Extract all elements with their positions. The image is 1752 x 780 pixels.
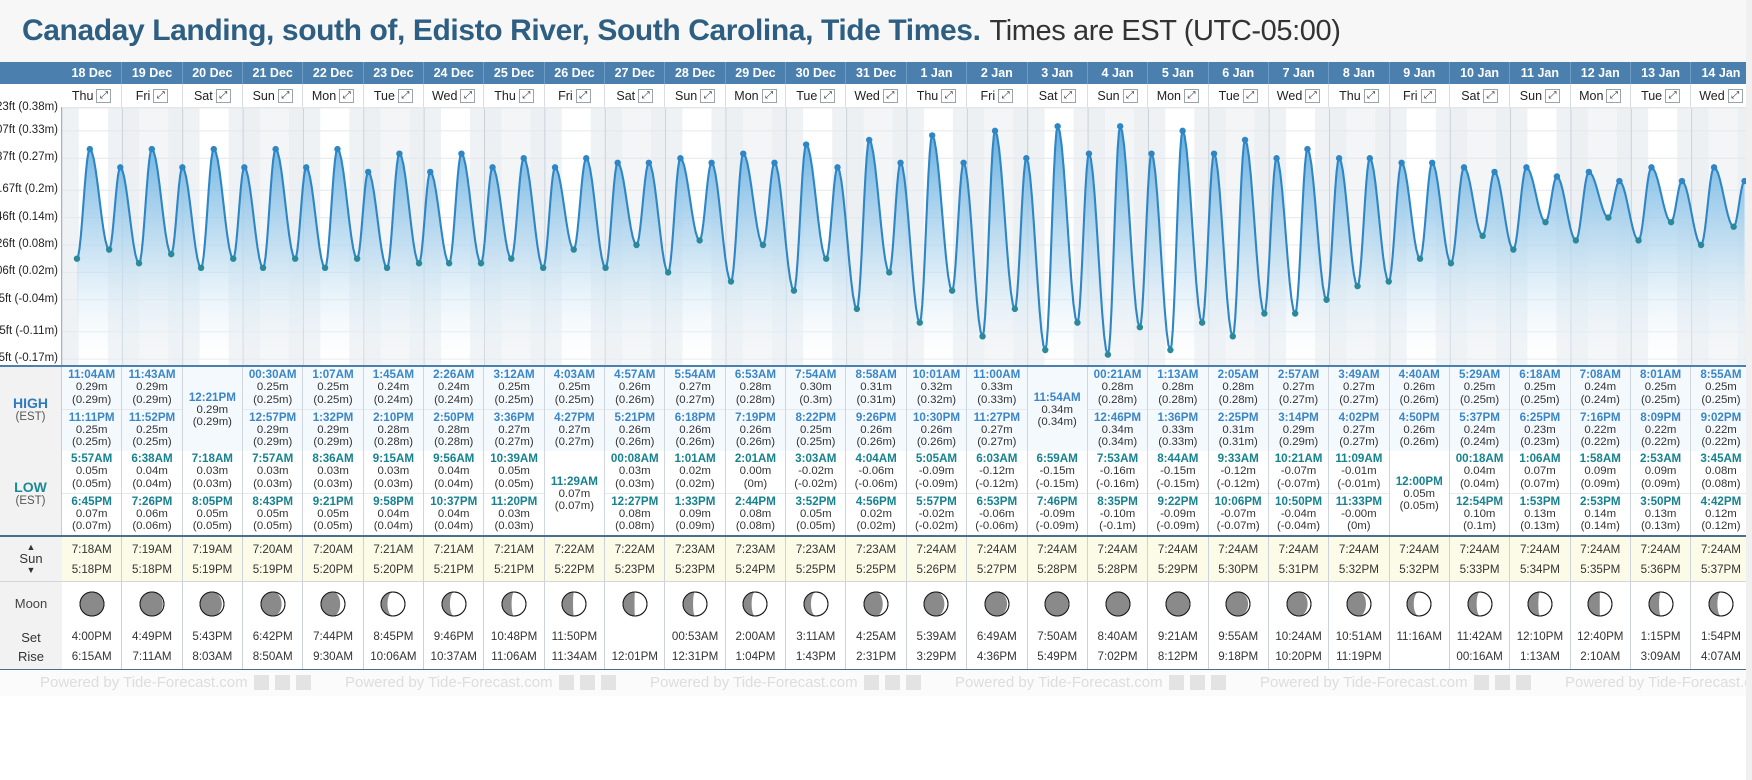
low-tide-cell[interactable]: 7:53AM-0.16m(-0.16m)8:35PM-0.10m(-0.1m) — [1088, 451, 1148, 535]
day-of-week-cell[interactable]: Mon⤢ — [726, 84, 786, 107]
low-tide-entry-time: 1:01AM — [665, 452, 724, 465]
moon-phase-icon — [320, 591, 346, 617]
low-tide-entry: 2:01AM0.00m(0m) — [726, 451, 785, 494]
date-cell[interactable]: 12 Jan — [1571, 62, 1631, 84]
low-tide-entry-time: 11:33PM — [1329, 495, 1388, 508]
low-tide-cell[interactable]: 5:57AM0.05m(0.05m)6:45PM0.07m(0.07m) — [62, 451, 122, 535]
watermark-text: Powered by Tide-Forecast.com — [40, 674, 248, 691]
expand-icon[interactable]: ⤢ — [998, 89, 1013, 103]
moon-cell — [665, 582, 725, 625]
moon-cell — [1148, 582, 1208, 625]
day-of-week-cell[interactable]: Sun⤢ — [1510, 84, 1570, 107]
expand-icon[interactable]: ⤢ — [638, 89, 653, 103]
high-tide-entry-height: 0.27m — [1269, 381, 1328, 394]
low-tide-entry-time: 12:27PM — [605, 495, 664, 508]
high-tide-entry-height: 0.27m — [484, 424, 543, 437]
high-tide-cell[interactable]: 00:30AM0.25m(0.25m)12:57PM0.29m(0.29m) — [243, 367, 303, 451]
day-of-week-label: Thu — [72, 89, 94, 103]
low-tide-cell[interactable]: 9:56AM0.04m(0.04m)10:37PM0.04m(0.04m) — [424, 451, 484, 535]
sunrise-time: 7:24AM — [1329, 540, 1388, 560]
low-tide-entry: 12:27PM0.08m(0.08m) — [605, 494, 664, 536]
moon-phase-icon — [1346, 591, 1372, 617]
page-scrollbar[interactable] — [1746, 0, 1752, 780]
high-tide-entry: 6:53AM0.28m(0.28m) — [726, 367, 785, 410]
expand-icon[interactable]: ⤢ — [1483, 89, 1498, 103]
high-tide-entry-height: 0.24m — [1571, 381, 1630, 394]
moon-cell — [122, 582, 182, 625]
high-tide-entry-height: 0.26m — [907, 424, 966, 437]
high-tide-entry-time: 7:54AM — [786, 368, 845, 381]
moon-cell — [62, 582, 122, 625]
low-tide-entry-time: 8:05PM — [183, 495, 242, 508]
low-tide-entry: 11:09AM-0.01m(-0.01m) — [1329, 451, 1388, 494]
date-cell[interactable]: 9 Jan — [1390, 62, 1450, 84]
day-of-week-row: Thu⤢Fri⤢Sat⤢Sun⤢Mon⤢Tue⤢Wed⤢Thu⤢Fri⤢Sat⤢… — [0, 84, 1752, 107]
day-of-week-cell[interactable]: Tue⤢ — [364, 84, 424, 107]
sun-cell: 7:19AM5:18PM — [122, 537, 182, 581]
date-cell[interactable]: 2 Jan — [967, 62, 1027, 84]
low-tide-entry-height: 0.03m — [243, 465, 302, 478]
high-tide-cell[interactable]: 1:07AM0.25m(0.25m)1:32PM0.29m(0.29m) — [303, 367, 363, 451]
expand-icon[interactable]: ⤢ — [1243, 89, 1258, 103]
day-of-week-cell[interactable]: Wed⤢ — [1269, 84, 1329, 107]
expand-icon[interactable]: ⤢ — [1545, 89, 1560, 103]
high-tide-cell[interactable]: 3:49AM0.27m(0.27m)4:02PM0.27m(0.27m) — [1329, 367, 1389, 451]
expand-icon[interactable]: ⤢ — [153, 89, 168, 103]
high-tide-entry-time: 8:58AM — [846, 368, 905, 381]
date-cell[interactable]: 7 Jan — [1269, 62, 1329, 84]
expand-icon[interactable]: ⤢ — [762, 89, 777, 103]
moonset-time: 6:49AM — [967, 627, 1026, 647]
high-tide-cell[interactable]: 8:01AM0.25m(0.25m)8:09PM0.22m(0.22m) — [1631, 367, 1691, 451]
high-tide-cell[interactable]: 8:55AM0.25m(0.25m)9:02PM0.22m(0.22m) — [1691, 367, 1751, 451]
high-tide-cell[interactable]: 3:12AM0.25m(0.25m)3:36PM0.27m(0.27m) — [484, 367, 544, 451]
date-cell[interactable]: 25 Dec — [484, 62, 544, 84]
high-tide-cell[interactable]: 5:29AM0.25m(0.25m)5:37PM0.24m(0.24m) — [1450, 367, 1510, 451]
low-tide-cell[interactable]: 1:06AM0.07m(0.07m)1:53PM0.13m(0.13m) — [1510, 451, 1570, 535]
moonset-label: Set — [21, 628, 41, 648]
low-tide-entry: 9:33AM-0.12m(-0.12m) — [1209, 451, 1268, 494]
low-tide-cell[interactable]: 8:36AM0.03m(0.03m)9:21PM0.05m(0.05m) — [303, 451, 363, 535]
day-of-week-cell[interactable]: Thu⤢ — [907, 84, 967, 107]
expand-icon[interactable]: ⤢ — [883, 89, 898, 103]
low-tide-cell[interactable]: 4:04AM-0.06m(-0.06m)4:56PM0.02m(0.02m) — [846, 451, 906, 535]
low-tide-entry-height: -0.07m — [1209, 508, 1268, 521]
high-tide-entry-height-alt: (0.25m) — [1510, 394, 1569, 407]
day-of-week-label: Fri — [1403, 89, 1418, 103]
y-axis-tick-label: -0.55ft (-0.17m) — [0, 352, 58, 364]
low-tide-cell[interactable]: 6:59AM-0.15m(-0.15m)7:46PM-0.09m(-0.09m) — [1028, 451, 1088, 535]
date-cell[interactable]: 5 Jan — [1148, 62, 1208, 84]
high-tide-cell[interactable]: 4:40AM0.26m(0.26m)4:50PM0.26m(0.26m) — [1390, 367, 1450, 451]
high-tide-cell[interactable]: 4:03AM0.25m(0.25m)4:27PM0.27m(0.27m) — [545, 367, 605, 451]
sun-cell: 7:23AM5:23PM — [665, 537, 725, 581]
low-tide-entry-height: 0.03m — [484, 508, 543, 521]
date-cell[interactable]: 29 Dec — [726, 62, 786, 84]
expand-icon[interactable]: ⤢ — [519, 89, 534, 103]
moon-setrise-cell: 1:54PM4:07AM — [1691, 625, 1751, 669]
low-tide-title: LOW — [14, 479, 47, 495]
high-tide-entry-height: 0.25m — [243, 381, 302, 394]
low-tide-entry-time: 8:43PM — [243, 495, 302, 508]
moonrise-time: 9:30AM — [303, 647, 362, 667]
low-tide-entry-time: 9:21PM — [303, 495, 362, 508]
day-of-week-cell[interactable]: Fri⤢ — [122, 84, 182, 107]
low-tide-entry-height-alt: (0.09m) — [665, 520, 724, 533]
high-tide-cell[interactable]: 7:08AM0.24m(0.24m)7:16PM0.22m(0.22m) — [1571, 367, 1631, 451]
day-of-week-cell[interactable]: Mon⤢ — [1571, 84, 1631, 107]
watermark-refresh-icon — [275, 675, 290, 690]
high-tide-cell[interactable]: 00:21AM0.28m(0.28m)12:46PM0.34m(0.34m) — [1088, 367, 1148, 451]
date-cell[interactable]: 10 Jan — [1450, 62, 1510, 84]
y-axis-tick-label: 0.67ft (0.2m) — [0, 183, 58, 195]
high-tide-entry-height: 0.26m — [605, 424, 664, 437]
expand-icon[interactable]: ⤢ — [1606, 89, 1621, 103]
low-tide-entry-time: 7:46PM — [1028, 495, 1087, 508]
high-tide-entry: 1:13AM0.28m(0.28m) — [1148, 367, 1207, 410]
low-tide-entry: 7:18AM0.03m(0.03m) — [183, 451, 242, 494]
watermark-alert-icon — [1516, 675, 1531, 690]
high-tide-entry-height-alt: (0.26m) — [907, 436, 966, 449]
low-tide-entry-height-alt: (-0.06m) — [967, 520, 1026, 533]
day-of-week-cell[interactable]: Mon⤢ — [1148, 84, 1208, 107]
high-tide-entry-height: 0.27m — [1329, 424, 1388, 437]
date-cell[interactable]: 13 Jan — [1631, 62, 1691, 84]
moonset-time: 4:25AM — [846, 627, 905, 647]
low-tide-entry-height: -0.09m — [1028, 508, 1087, 521]
high-tide-cell[interactable]: 4:57AM0.26m(0.26m)5:21PM0.26m(0.26m) — [605, 367, 665, 451]
low-tide-entry-height: 0.04m — [122, 465, 181, 478]
low-tide-cell[interactable]: 6:03AM-0.12m(-0.12m)6:53PM-0.06m(-0.06m) — [967, 451, 1027, 535]
low-tide-entry: 5:05AM-0.09m(-0.09m) — [907, 451, 966, 494]
date-cell[interactable]: 28 Dec — [665, 62, 725, 84]
moonset-time: 5:43PM — [183, 627, 242, 647]
high-tide-entry-time: 7:19PM — [726, 411, 785, 424]
high-tide-entry: 12:46PM0.34m(0.34m) — [1088, 410, 1147, 452]
expand-icon[interactable]: ⤢ — [820, 89, 835, 103]
high-tide-cell[interactable]: 1:13AM0.28m(0.28m)1:36PM0.33m(0.33m) — [1148, 367, 1208, 451]
expand-icon[interactable]: ⤢ — [278, 89, 293, 103]
high-tide-entry-height-alt: (0.26m) — [846, 436, 905, 449]
high-tide-cell[interactable]: 6:18AM0.25m(0.25m)6:25PM0.23m(0.23m) — [1510, 367, 1570, 451]
moon-phase-icon — [1467, 591, 1493, 617]
expand-icon[interactable]: ⤢ — [339, 89, 354, 103]
high-tide-cell[interactable]: 11:04AM0.29m(0.29m)11:11PM0.25m(0.25m) — [62, 367, 122, 451]
high-tide-entry: 11:11PM0.25m(0.25m) — [62, 410, 121, 452]
sunset-time: 5:18PM — [122, 560, 181, 580]
low-tide-entry-height: 0.14m — [1571, 508, 1630, 521]
high-tide-cell[interactable]: 8:58AM0.31m(0.31m)9:26PM0.26m(0.26m) — [846, 367, 906, 451]
moon-phase-icon — [1105, 591, 1131, 617]
high-tide-cell[interactable]: 11:43AM0.29m(0.29m)11:52PM0.25m(0.25m) — [122, 367, 182, 451]
sunrise-time: 7:20AM — [303, 540, 362, 560]
low-tide-cell[interactable]: 5:05AM-0.09m(-0.09m)5:57PM-0.02m(-0.02m) — [907, 451, 967, 535]
high-tide-cell[interactable]: 6:53AM0.28m(0.28m)7:19PM0.26m(0.26m) — [726, 367, 786, 451]
date-cell[interactable]: 1 Jan — [907, 62, 967, 84]
low-tide-entry-time: 6:53PM — [967, 495, 1026, 508]
high-tide-cell[interactable]: 11:00AM0.33m(0.33m)11:27PM0.27m(0.27m) — [967, 367, 1027, 451]
low-tide-cell[interactable]: 3:03AM-0.02m(-0.02m)3:52PM0.05m(0.05m) — [786, 451, 846, 535]
high-tide-entry-height: 0.26m — [1390, 381, 1449, 394]
low-tide-cell[interactable]: 10:21AM-0.07m(-0.07m)10:50PM-0.04m(-0.04… — [1269, 451, 1329, 535]
high-tide-entry-height: 0.22m — [1571, 424, 1630, 437]
high-tide-entry-height-alt: (0.24m) — [1571, 394, 1630, 407]
expand-icon[interactable]: ⤢ — [1123, 89, 1138, 103]
moon-setrise-cell: 5:39AM3:29PM — [907, 625, 967, 669]
high-tide-entry-height-alt: (0.29m) — [243, 436, 302, 449]
date-cell[interactable]: 27 Dec — [605, 62, 665, 84]
low-tide-entry-time: 5:57AM — [62, 452, 121, 465]
sunset-time: 5:32PM — [1329, 560, 1388, 580]
moonrise-time: 10:20PM — [1269, 647, 1328, 667]
low-tide-entry-time: 10:50PM — [1269, 495, 1328, 508]
day-of-week-cell[interactable]: Sun⤢ — [1088, 84, 1148, 107]
sun-cell: 7:24AM5:32PM — [1390, 537, 1450, 581]
high-tide-entry-time: 4:40AM — [1390, 368, 1449, 381]
sun-cell: 7:20AM5:20PM — [303, 537, 363, 581]
high-tide-entry-height: 0.24m — [1450, 424, 1509, 437]
date-cell[interactable]: 8 Jan — [1329, 62, 1389, 84]
low-tide-cell[interactable]: 1:01AM0.02m(0.02m)1:33PM0.09m(0.09m) — [665, 451, 725, 535]
low-tide-entry-height-alt: (0.03m) — [303, 478, 362, 491]
low-tide-entry-height-alt: (0.03m) — [183, 478, 242, 491]
low-tide-cell[interactable]: 9:33AM-0.12m(-0.12m)10:06PM-0.07m(-0.07m… — [1209, 451, 1269, 535]
sunset-time: 5:29PM — [1148, 560, 1207, 580]
moonrise-time: 2:31PM — [846, 647, 905, 667]
date-cell[interactable]: 18 Dec — [62, 62, 122, 84]
sunrise-time: 7:20AM — [243, 540, 302, 560]
moon-cell — [1510, 582, 1570, 625]
low-tide-cell[interactable]: 7:18AM0.03m(0.03m)8:05PM0.05m(0.05m) — [183, 451, 243, 535]
day-of-week-cell[interactable]: Sun⤢ — [243, 84, 303, 107]
high-tide-entry: 10:30PM0.26m(0.26m) — [907, 410, 966, 452]
high-tide-entry-time: 2:50PM — [424, 411, 483, 424]
low-tide-entry: 9:56AM0.04m(0.04m) — [424, 451, 483, 494]
high-tide-entry: 5:29AM0.25m(0.25m) — [1450, 367, 1509, 410]
day-of-week-cell[interactable]: Thu⤢ — [1329, 84, 1389, 107]
low-tide-entry-time: 1:06AM — [1510, 452, 1569, 465]
high-tide-entry-height: 0.27m — [1329, 381, 1388, 394]
moonrise-time: 8:03AM — [183, 647, 242, 667]
high-tide-entry-time: 1:07AM — [303, 368, 362, 381]
high-tide-cell[interactable]: 11:54AM0.34m(0.34m) — [1028, 367, 1088, 451]
high-tide-entry-height: 0.25m — [484, 381, 543, 394]
low-tide-cell[interactable]: 6:38AM0.04m(0.04m)7:26PM0.06m(0.06m) — [122, 451, 182, 535]
date-cell[interactable]: 21 Dec — [243, 62, 303, 84]
day-of-week-cell[interactable]: Wed⤢ — [1691, 84, 1751, 107]
low-tide-entry-time: 00:18AM — [1450, 452, 1509, 465]
low-tide-cell[interactable]: 1:58AM0.09m(0.09m)2:53PM0.14m(0.14m) — [1571, 451, 1631, 535]
high-tide-entry-time: 1:36PM — [1148, 411, 1207, 424]
high-tide-cell[interactable]: 2:57AM0.27m(0.27m)3:14PM0.29m(0.29m) — [1269, 367, 1329, 451]
low-tide-entry-time: 3:45AM — [1691, 452, 1750, 465]
sunrise-time: 7:24AM — [1148, 540, 1207, 560]
sunset-time: 5:19PM — [243, 560, 302, 580]
moonset-time: 9:46PM — [424, 627, 483, 647]
high-tide-cell[interactable]: 2:05AM0.28m(0.28m)2:25PM0.31m(0.31m) — [1209, 367, 1269, 451]
date-cell[interactable]: 14 Jan — [1691, 62, 1751, 84]
date-cell[interactable]: 6 Jan — [1209, 62, 1269, 84]
high-tide-entry-time: 8:22PM — [786, 411, 845, 424]
moonrise-time: 12:31PM — [665, 647, 724, 667]
low-tide-cell[interactable]: 10:39AM0.05m(0.05m)11:20PM0.03m(0.03m) — [484, 451, 544, 535]
low-tide-entry: 4:42PM0.12m(0.12m) — [1691, 494, 1750, 536]
day-of-week-cell[interactable]: Fri⤢ — [967, 84, 1027, 107]
moon-setrise-cell: 8:45PM10:06AM — [364, 625, 424, 669]
date-cell[interactable]: 31 Dec — [846, 62, 906, 84]
high-tide-entry-height-alt: (0.25m) — [1450, 394, 1509, 407]
low-tide-cell[interactable]: 11:29AM0.07m(0.07m) — [545, 451, 605, 535]
high-tide-entry-height-alt: (0.29m) — [62, 394, 121, 407]
low-tide-cell[interactable]: 00:08AM0.03m(0.03m)12:27PM0.08m(0.08m) — [605, 451, 665, 535]
low-tide-cell[interactable]: 2:01AM0.00m(0m)2:44PM0.08m(0.08m) — [726, 451, 786, 535]
high-tide-entry: 11:04AM0.29m(0.29m) — [62, 367, 121, 410]
date-cell[interactable]: 26 Dec — [545, 62, 605, 84]
moon-phase-icon — [441, 591, 467, 617]
expand-icon[interactable]: ⤢ — [576, 89, 591, 103]
date-cell[interactable]: 19 Dec — [122, 62, 182, 84]
high-tide-cell[interactable]: 7:54AM0.30m(0.3m)8:22PM0.25m(0.25m) — [786, 367, 846, 451]
expand-icon[interactable]: ⤢ — [1305, 89, 1320, 103]
day-of-week-cell[interactable]: Tue⤢ — [1631, 84, 1691, 107]
day-of-week-cell[interactable]: Tue⤢ — [1209, 84, 1269, 107]
low-tide-entry-time: 10:21AM — [1269, 452, 1328, 465]
low-tide-entry-height: 0.05m — [484, 465, 543, 478]
low-tide-cell[interactable]: 7:57AM0.03m(0.03m)8:43PM0.05m(0.05m) — [243, 451, 303, 535]
high-tide-entry-height: 0.25m — [1691, 381, 1750, 394]
date-cell[interactable]: 30 Dec — [786, 62, 846, 84]
date-cell[interactable]: 11 Jan — [1510, 62, 1570, 84]
high-tide-cell[interactable]: 1:45AM0.24m(0.24m)2:10PM0.28m(0.28m) — [364, 367, 424, 451]
low-tide-cell[interactable]: 11:09AM-0.01m(-0.01m)11:33PM-0.00m(0m) — [1329, 451, 1389, 535]
high-tide-entry-height-alt: (0.31m) — [1209, 436, 1268, 449]
day-of-week-cell[interactable]: Thu⤢ — [484, 84, 544, 107]
sunrise-time: 7:24AM — [1510, 540, 1569, 560]
moon-phase-icon — [863, 591, 889, 617]
expand-icon[interactable]: ⤢ — [1364, 89, 1379, 103]
expand-icon[interactable]: ⤢ — [1061, 89, 1076, 103]
day-of-week-cell[interactable]: Wed⤢ — [424, 84, 484, 107]
expand-icon[interactable]: ⤢ — [460, 89, 475, 103]
timezone-note: Times are EST (UTC-05:00) — [990, 15, 1341, 48]
sun-cell: 7:24AM5:27PM — [967, 537, 1027, 581]
low-tide-entry-height: -0.07m — [1269, 465, 1328, 478]
moonset-time: 8:40AM — [1088, 627, 1147, 647]
tide-graph: 1.23ft (0.38m)1.07ft (0.33m)0.87ft (0.27… — [0, 107, 1752, 365]
high-tide-cell[interactable]: 5:54AM0.27m(0.27m)6:18PM0.26m(0.26m) — [665, 367, 725, 451]
low-tide-entry-height-alt: (0.14m) — [1571, 520, 1630, 533]
sun-cell: 7:22AM5:23PM — [605, 537, 665, 581]
low-tide-entry-height: -0.00m — [1329, 508, 1388, 521]
expand-icon[interactable]: ⤢ — [941, 89, 956, 103]
moon-setrise-cell: 9:46PM10:37AM — [424, 625, 484, 669]
day-of-week-cell[interactable]: Sat⤢ — [1450, 84, 1510, 107]
low-tide-cell[interactable]: 9:15AM0.03m(0.03m)9:58PM0.04m(0.04m) — [364, 451, 424, 535]
expand-icon[interactable]: ⤢ — [96, 89, 111, 103]
expand-icon[interactable]: ⤢ — [398, 89, 413, 103]
sunrise-time: 7:22AM — [605, 540, 664, 560]
expand-icon[interactable]: ⤢ — [1728, 89, 1743, 103]
low-tide-entry: 7:53AM-0.16m(-0.16m) — [1088, 451, 1147, 494]
day-of-week-cell[interactable]: Sat⤢ — [1028, 84, 1088, 107]
day-of-week-cell[interactable]: Sun⤢ — [665, 84, 725, 107]
moon-phase-icon — [622, 591, 648, 617]
y-axis-tick-label: 1.23ft (0.38m) — [0, 101, 58, 113]
day-of-week-label: Tue — [1219, 89, 1240, 103]
expand-icon[interactable]: ⤢ — [1421, 89, 1436, 103]
low-tide-entry-time: 7:53AM — [1088, 452, 1147, 465]
date-cell[interactable]: 23 Dec — [364, 62, 424, 84]
day-of-week-cell[interactable]: Sat⤢ — [605, 84, 665, 107]
low-tide-cell[interactable]: 12:00PM0.05m(0.05m) — [1390, 451, 1450, 535]
low-tide-cell[interactable]: 00:18AM0.04m(0.04m)12:54PM0.10m(0.1m) — [1450, 451, 1510, 535]
low-tide-entry-height-alt: (0.05m) — [183, 520, 242, 533]
moon-cell — [1390, 582, 1450, 625]
expand-icon[interactable]: ⤢ — [1184, 89, 1199, 103]
date-cell[interactable]: 22 Dec — [303, 62, 363, 84]
high-tide-entry-time: 4:03AM — [545, 368, 604, 381]
sun-cell: 7:22AM5:22PM — [545, 537, 605, 581]
high-tide-entry-height: 0.28m — [364, 424, 423, 437]
high-tide-entry-time: 1:13AM — [1148, 368, 1207, 381]
day-of-week-cell[interactable]: Sat⤢ — [183, 84, 243, 107]
expand-icon[interactable]: ⤢ — [216, 89, 231, 103]
expand-icon[interactable]: ⤢ — [700, 89, 715, 103]
moon-setrise-cell: 7:50AM5:49PM — [1028, 625, 1088, 669]
low-tide-entry: 2:44PM0.08m(0.08m) — [726, 494, 785, 536]
sunset-time: 5:28PM — [1088, 560, 1147, 580]
high-tide-entry: 10:01AM0.32m(0.32m) — [907, 367, 966, 410]
low-tide-entry-time: 7:26PM — [122, 495, 181, 508]
low-tide-entry-height: 0.05m — [243, 508, 302, 521]
high-tide-cell[interactable]: 10:01AM0.32m(0.32m)10:30PM0.26m(0.26m) — [907, 367, 967, 451]
moon-setrise-cell: 6:49AM4:36PM — [967, 625, 1027, 669]
low-tide-entry: 3:03AM-0.02m(-0.02m) — [786, 451, 845, 494]
low-tide-entry-height-alt: (0m) — [726, 478, 785, 491]
date-header-row: 18 Dec19 Dec20 Dec21 Dec22 Dec23 Dec24 D… — [0, 62, 1752, 84]
day-of-week-cell[interactable]: Fri⤢ — [545, 84, 605, 107]
date-cell[interactable]: 3 Jan — [1028, 62, 1088, 84]
high-tide-cell[interactable]: 12:21PM0.29m(0.29m) — [183, 367, 243, 451]
low-tide-entry-height: -0.01m — [1329, 465, 1388, 478]
day-of-week-cell[interactable]: Mon⤢ — [303, 84, 363, 107]
day-of-week-cell[interactable]: Thu⤢ — [62, 84, 122, 107]
high-tide-entry-height-alt: (0.22m) — [1571, 436, 1630, 449]
low-tide-cell[interactable]: 8:44AM-0.15m(-0.15m)9:22PM-0.09m(-0.09m) — [1148, 451, 1208, 535]
low-tide-entry-height-alt: (0.02m) — [846, 520, 905, 533]
low-tide-entry: 10:50PM-0.04m(-0.04m) — [1269, 494, 1328, 536]
day-of-week-cell[interactable]: Wed⤢ — [846, 84, 906, 107]
sun-cell: 7:21AM5:21PM — [484, 537, 544, 581]
low-tide-cell[interactable]: 3:45AM0.08m(0.08m)4:42PM0.12m(0.12m) — [1691, 451, 1751, 535]
date-cell[interactable]: 4 Jan — [1088, 62, 1148, 84]
sunrise-time: 7:24AM — [1269, 540, 1328, 560]
sunrise-time: 7:24AM — [1691, 540, 1750, 560]
low-tide-entry-height: 0.05m — [62, 465, 121, 478]
day-of-week-cell[interactable]: Fri⤢ — [1390, 84, 1450, 107]
high-tide-entry-time: 3:49AM — [1329, 368, 1388, 381]
low-tide-cell[interactable]: 2:53AM0.09m(0.09m)3:50PM0.13m(0.13m) — [1631, 451, 1691, 535]
high-tide-cell[interactable]: 2:26AM0.24m(0.24m)2:50PM0.28m(0.28m) — [424, 367, 484, 451]
expand-icon[interactable]: ⤢ — [1665, 89, 1680, 103]
date-cell[interactable]: 20 Dec — [183, 62, 243, 84]
date-header-corner — [0, 62, 62, 84]
day-of-week-cell[interactable]: Tue⤢ — [786, 84, 846, 107]
low-tide-entry: 9:58PM0.04m(0.04m) — [364, 494, 423, 536]
low-tide-entry: 00:08AM0.03m(0.03m) — [605, 451, 664, 494]
date-cell[interactable]: 24 Dec — [424, 62, 484, 84]
y-axis-tick-label: -0.35ft (-0.11m) — [0, 325, 58, 337]
